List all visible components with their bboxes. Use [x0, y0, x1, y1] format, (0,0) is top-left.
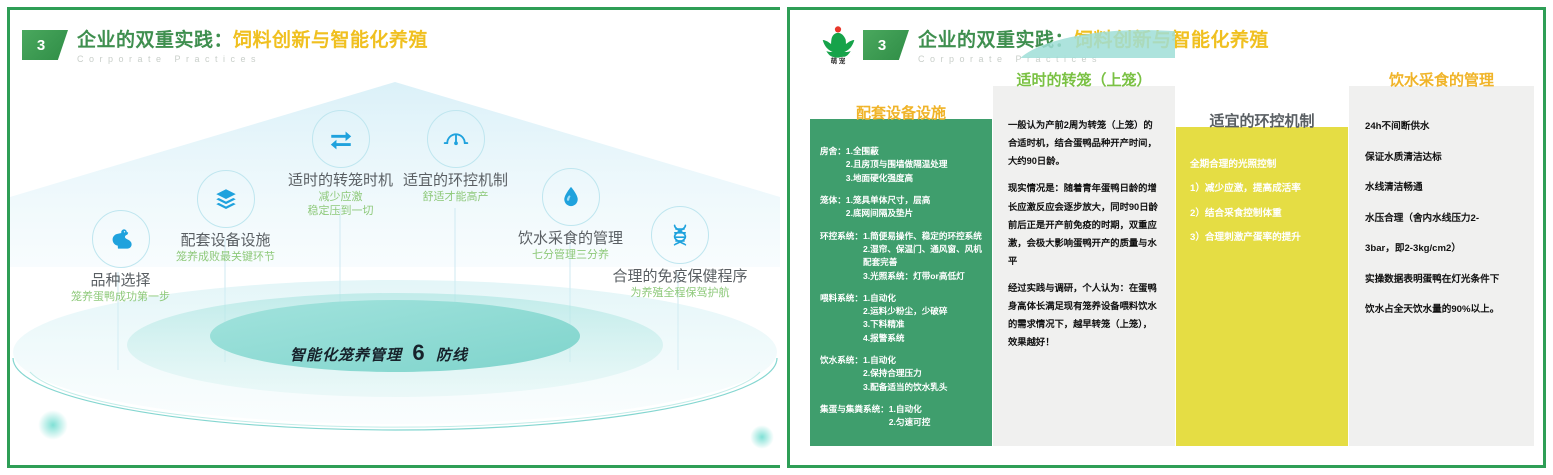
section-badge: 3: [863, 30, 909, 60]
group-items: 1.简便易操作、稳定的环控系统 2.湿帘、保温门、通风窗、风机配套完善 3.光照…: [863, 230, 984, 283]
svg-text:萌 宠: 萌 宠: [831, 56, 846, 65]
presentation-stage: 3 企业的双重实践：饲料创新与智能化养殖 Corporate Practices…: [0, 0, 1553, 475]
water-drop-icon: [558, 184, 584, 210]
body-paragraph: 经过实践与调研，个人认为：在蛋鸭身高体长满足现有笼养设备喂料饮水的需求情况下，越…: [1008, 279, 1160, 352]
node-ring: [427, 110, 485, 168]
core-label: 智能化笼养管理 6 防线: [290, 340, 468, 366]
node-ring: [542, 168, 600, 226]
body-paragraph: 保证水质清洁达标: [1365, 147, 1518, 169]
column-body: 24h不间断供水 保证水质清洁达标 水线清洁畅通 水压合理（舍内水线压力2- 3…: [1349, 86, 1534, 446]
body-paragraph: 3bar，即2-3kg/cm2）: [1365, 238, 1518, 260]
column-body: 一般认为产前2周为转笼（上笼）的合适时机，结合蛋鸭品种开产时间，大约90日龄。 …: [993, 86, 1175, 446]
layers-icon: [213, 186, 239, 212]
node-subtitle: 为养殖全程保驾护航: [600, 287, 760, 301]
column-title: 饮水采食的管理: [1349, 72, 1534, 90]
column-body: 房舍：1.全围蔽 2.且房顶与围墙做隔温处理 3.地面硬化强度高 笼体：1.笼具…: [810, 119, 992, 446]
column-body: 全期合理的光照控制 1）减少应激，提高成活率 2）结合采食控制体重 3）合理刺激…: [1176, 127, 1348, 446]
exchange-icon: [328, 126, 354, 152]
group-key: 饮水系统：: [820, 354, 863, 394]
body-paragraph: 水线清洁畅通: [1365, 177, 1518, 199]
decor-dot-right: [750, 425, 774, 449]
body-group: 饮水系统：1.自动化 2.保持合理压力 3.配备适当的饮水乳头: [820, 354, 984, 394]
group-items: 1.全围蔽 2.且房顶与围墙做隔温处理 3.地面硬化强度高: [846, 145, 948, 185]
body-group: 集蛋与集粪系统：1.自动化 2.匀速可控: [820, 403, 984, 430]
group-key: 集蛋与集粪系统：: [820, 403, 889, 430]
group-key: 房舍：: [820, 145, 846, 185]
gauge-icon: [442, 125, 470, 153]
node-ring: [197, 170, 255, 228]
page-subtitle-en: Corporate Practices: [918, 54, 1269, 64]
slide-left-header: 3 企业的双重实践：饲料创新与智能化养殖 Corporate Practices: [22, 30, 428, 64]
group-key: 笼体：: [820, 194, 846, 221]
body-paragraph: 3）合理刺激产蛋率的提升: [1190, 230, 1334, 245]
body-paragraph: 1）减少应激，提高成活率: [1190, 181, 1334, 196]
slide-right-header: 3 企业的双重实践：饲料创新与智能化养殖 Corporate Practices: [863, 30, 1269, 64]
body-group: 喂料系统：1.自动化 2.运料少粉尘，少破碎 3.下料精准 4.报警系统: [820, 292, 984, 345]
group-key: 喂料系统：: [820, 292, 863, 345]
column-title: 适宜的环控机制: [1176, 113, 1348, 131]
body-paragraph: 2）结合采食控制体重: [1190, 206, 1334, 221]
page-title: 企业的双重实践：饲料创新与智能化养殖: [918, 30, 1269, 52]
node-ring: [92, 210, 150, 268]
node-subtitle: 笼养蛋鸭成功第一步: [48, 291, 193, 305]
group-key: 环控系统：: [820, 230, 863, 283]
node-title: 配套设备设施: [153, 232, 298, 250]
body-paragraph: 现实情况是：随着青年蛋鸭日龄的增长应激反应会逐步放大，同时90日龄前后正是开产前…: [1008, 179, 1160, 270]
node-ring: [312, 110, 370, 168]
column-title: 配套设备设施: [810, 105, 992, 123]
decor-dot-left: [38, 410, 68, 440]
section-badge: 3: [22, 30, 68, 60]
duck-icon: [107, 225, 135, 253]
slide-right: 萌 宠 3 企业的双重实践：饲料创新与智能化养殖 Corporate Pract…: [780, 0, 1553, 475]
node-title: 合理的免疫保健程序: [600, 268, 760, 286]
node-ring: [651, 206, 709, 264]
body-paragraph: 饮水占全天饮水量的90%以上。: [1365, 299, 1518, 321]
column-title: 适时的转笼（上笼）: [993, 72, 1175, 90]
group-items: 1.自动化 2.运料少粉尘，少破碎 3.下料精准 4.报警系统: [863, 292, 948, 345]
body-paragraph: 24h不间断供水: [1365, 116, 1518, 138]
slide-right-content: 萌 宠 3 企业的双重实践：饲料创新与智能化养殖 Corporate Pract…: [790, 10, 1543, 465]
node-title: 品种选择: [48, 272, 193, 290]
dna-icon: [667, 222, 693, 248]
group-items: 1.笼具单体尺寸，层高 2.底网间隔及垫片: [846, 194, 931, 221]
body-group: 环控系统：1.简便易操作、稳定的环控系统 2.湿帘、保温门、通风窗、风机配套完善…: [820, 230, 984, 283]
body-paragraph: 一般认为产前2周为转笼（上笼）的合适时机，结合蛋鸭品种开产时间，大约90日龄。: [1008, 116, 1160, 170]
group-items: 1.自动化 2.匀速可控: [889, 403, 931, 430]
body-group: 笼体：1.笼具单体尺寸，层高 2.底网间隔及垫片: [820, 194, 984, 221]
body-paragraph: 实操数据表明蛋鸭在灯光条件下: [1365, 269, 1518, 291]
slide-left: 3 企业的双重实践：饲料创新与智能化养殖 Corporate Practices…: [0, 0, 790, 475]
body-paragraph: 水压合理（舍内水线压力2-: [1365, 208, 1518, 230]
meng-crown-logo: 萌 宠: [812, 24, 864, 66]
body-paragraph: 全期合理的光照控制: [1190, 157, 1334, 172]
node-subtitle: 笼养成败最关键环节: [153, 251, 298, 265]
slide-left-content: 3 企业的双重实践：饲料创新与智能化养殖 Corporate Practices…: [10, 10, 780, 465]
body-group: 房舍：1.全围蔽 2.且房顶与围墙做隔温处理 3.地面硬化强度高: [820, 145, 984, 185]
page-title: 企业的双重实践：饲料创新与智能化养殖: [77, 30, 428, 52]
node-immunity[interactable]: 合理的免疫保健程序 为养殖全程保驾护航: [600, 206, 760, 301]
group-items: 1.自动化 2.保持合理压力 3.配备适当的饮水乳头: [863, 354, 948, 394]
page-subtitle-en: Corporate Practices: [77, 54, 428, 64]
